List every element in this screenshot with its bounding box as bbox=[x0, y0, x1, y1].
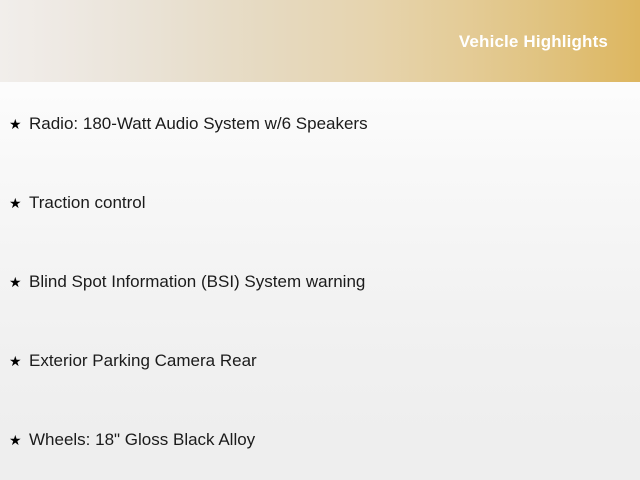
list-item-label: Wheels: 18" Gloss Black Alloy bbox=[29, 431, 255, 450]
list-item: ★ Blind Spot Information (BSI) System wa… bbox=[0, 269, 640, 295]
list-item-label: Radio: 180-Watt Audio System w/6 Speaker… bbox=[29, 115, 368, 134]
page-title: Vehicle Highlights bbox=[459, 33, 608, 50]
star-icon: ★ bbox=[9, 433, 29, 447]
header-band: Vehicle Highlights bbox=[0, 0, 640, 82]
list-item-label: Blind Spot Information (BSI) System warn… bbox=[29, 273, 365, 292]
star-icon: ★ bbox=[9, 275, 29, 289]
vehicle-highlights-list: ★ Radio: 180-Watt Audio System w/6 Speak… bbox=[0, 82, 640, 480]
list-item-label: Exterior Parking Camera Rear bbox=[29, 352, 257, 371]
list-item: ★ Traction control bbox=[0, 190, 640, 216]
star-icon: ★ bbox=[9, 117, 29, 131]
vehicle-highlights-panel: Vehicle Highlights ★ Radio: 180-Watt Aud… bbox=[0, 0, 640, 480]
star-icon: ★ bbox=[9, 196, 29, 210]
list-item: ★ Radio: 180-Watt Audio System w/6 Speak… bbox=[0, 111, 640, 137]
star-icon: ★ bbox=[9, 354, 29, 368]
list-item: ★ Exterior Parking Camera Rear bbox=[0, 348, 640, 374]
list-item: ★ Wheels: 18" Gloss Black Alloy bbox=[0, 427, 640, 453]
list-item-label: Traction control bbox=[29, 194, 146, 213]
